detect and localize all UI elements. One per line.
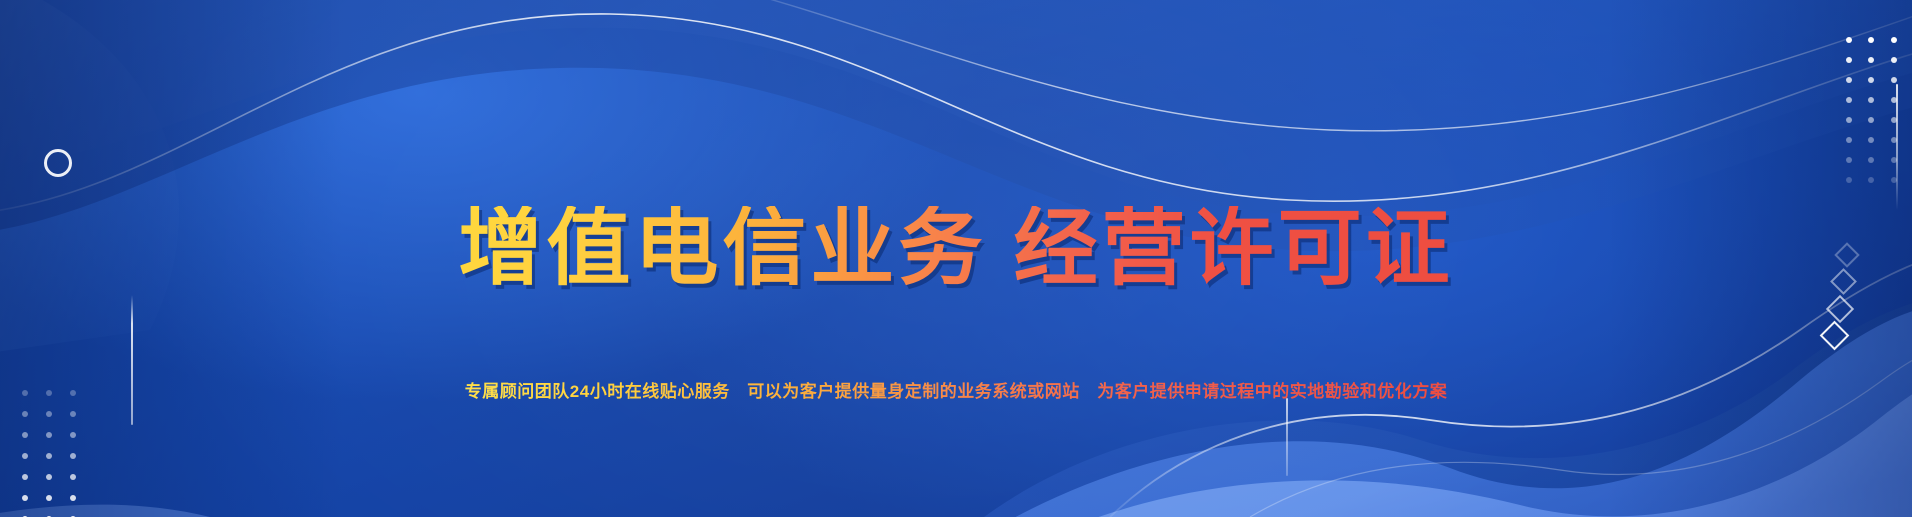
banner-title: 增值电信业务 经营许可证: [458, 206, 1453, 290]
promotional-banner: 增值电信业务 经营许可证 增值电信业务 经营许可证 专属顾问团队24小时在线贴心…: [0, 0, 1912, 517]
banner-subtitle: 专属顾问团队24小时在线贴心服务 可以为客户提供量身定制的业务系统或网站 为客户…: [465, 377, 1447, 402]
banner-content: 增值电信业务 经营许可证 增值电信业务 经营许可证 专属顾问团队24小时在线贴心…: [0, 0, 1912, 517]
banner-title-wrap: 增值电信业务 经营许可证 增值电信业务 经营许可证: [458, 150, 1453, 347]
